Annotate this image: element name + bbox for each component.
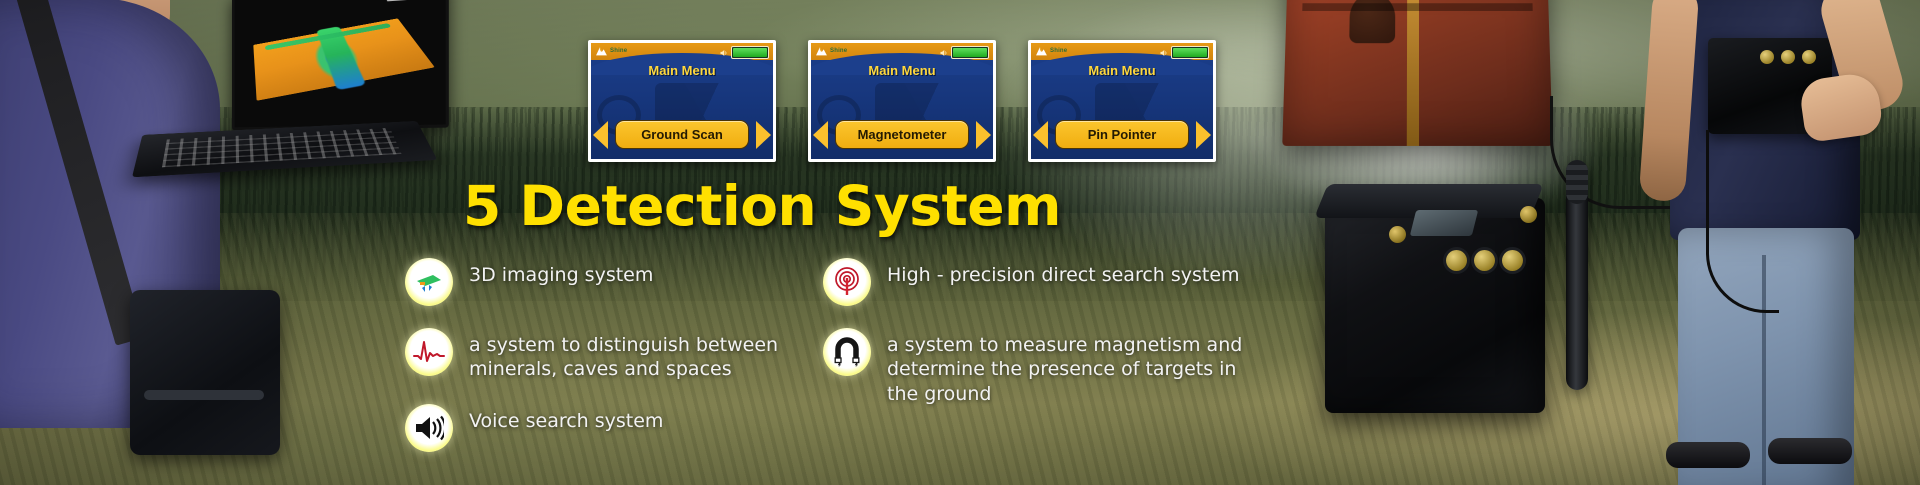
next-mode-arrow-icon[interactable] bbox=[1196, 121, 1211, 149]
list-item-label: a system to distinguish between minerals… bbox=[469, 328, 825, 382]
brand-logo: Shine bbox=[595, 44, 627, 57]
list-item-label: 3D imaging system bbox=[469, 258, 653, 287]
list-item: Voice search system bbox=[405, 404, 825, 452]
chest-body bbox=[1282, 0, 1552, 146]
handheld-knob-3 bbox=[1802, 50, 1816, 64]
screen-title: Main Menu bbox=[1031, 63, 1213, 78]
screen-title: Main Menu bbox=[811, 63, 993, 78]
page-title: 5 Detection System bbox=[463, 174, 1061, 238]
3d-scan-plot bbox=[253, 18, 434, 100]
list-item: a system to distinguish between minerals… bbox=[405, 328, 825, 382]
brand-logo-text: Shine bbox=[610, 48, 627, 54]
mode-button[interactable]: Magnetometer bbox=[835, 120, 969, 149]
handheld-knob-group bbox=[1760, 50, 1816, 64]
operator-right bbox=[1650, 0, 1920, 485]
battery-icon bbox=[731, 46, 769, 59]
waveform-pulse-icon bbox=[405, 328, 453, 376]
scanner-port-1 bbox=[1446, 250, 1467, 271]
device-screen-group: Shine Main Menu Ground Scan bbox=[588, 40, 1216, 162]
3d-imaging-icon bbox=[405, 258, 453, 306]
list-item-label: a system to measure magnetism and determ… bbox=[887, 328, 1263, 406]
scanner-knob-2 bbox=[1520, 206, 1537, 223]
equipment-bag bbox=[130, 290, 280, 455]
next-mode-arrow-icon[interactable] bbox=[756, 121, 771, 149]
mode-selector-row: Pin Pointer bbox=[1031, 120, 1213, 149]
scanner-port-group bbox=[1446, 250, 1523, 271]
treasure-chest bbox=[1285, 0, 1550, 145]
battery-icon bbox=[1171, 46, 1209, 59]
handheld-cord bbox=[1706, 130, 1779, 313]
status-indicators bbox=[939, 46, 989, 59]
mode-selector-row: Magnetometer bbox=[811, 120, 993, 149]
feature-column-right: High - precision direct search system a … bbox=[823, 258, 1263, 428]
handheld-knob-2 bbox=[1781, 50, 1795, 64]
prev-mode-arrow-icon[interactable] bbox=[1033, 121, 1048, 149]
brand-logo: Shine bbox=[815, 44, 847, 57]
list-item: 3D imaging system bbox=[405, 258, 825, 306]
brand-logo-text: Shine bbox=[830, 48, 847, 54]
prev-mode-arrow-icon[interactable] bbox=[593, 121, 608, 149]
mountain-logo-icon bbox=[595, 44, 608, 57]
brand-logo: Shine bbox=[1035, 44, 1067, 57]
laptop-keyboard bbox=[162, 128, 402, 167]
list-item: High - precision direct search system bbox=[823, 258, 1263, 306]
laptop-screen bbox=[232, 0, 449, 130]
search-coil-pole bbox=[1566, 160, 1588, 390]
mode-button[interactable]: Pin Pointer bbox=[1055, 120, 1189, 149]
next-mode-arrow-icon[interactable] bbox=[976, 121, 991, 149]
laptop-base bbox=[132, 121, 437, 177]
speaker-icon bbox=[939, 48, 948, 58]
operator-right-shoe-right bbox=[1768, 438, 1852, 464]
handheld-knob-1 bbox=[1760, 50, 1774, 64]
speaker-icon bbox=[1159, 48, 1168, 58]
battery-icon bbox=[951, 46, 989, 59]
screen-title: Main Menu bbox=[591, 63, 773, 78]
prev-mode-arrow-icon[interactable] bbox=[813, 121, 828, 149]
scanner-port-2 bbox=[1474, 250, 1495, 271]
feature-column-left: 3D imaging system a system to distinguis… bbox=[405, 258, 825, 474]
product-banner: Shine Main Menu Ground Scan bbox=[0, 0, 1920, 485]
scanner-port-3 bbox=[1502, 250, 1523, 271]
speaker-volume-icon bbox=[405, 404, 453, 452]
antenna-signal-icon bbox=[823, 258, 871, 306]
status-indicators bbox=[719, 46, 769, 59]
ground-scanner-case bbox=[1325, 198, 1545, 413]
device-screen-magnetometer[interactable]: Shine Main Menu Magnetometer bbox=[808, 40, 996, 162]
mountain-logo-icon bbox=[815, 44, 828, 57]
device-screen-pin-pointer[interactable]: Shine Main Menu Pin Pointer bbox=[1028, 40, 1216, 162]
mode-selector-row: Ground Scan bbox=[591, 120, 773, 149]
list-item-label: Voice search system bbox=[469, 404, 663, 433]
device-screen-ground-scan[interactable]: Shine Main Menu Ground Scan bbox=[588, 40, 776, 162]
scanner-display bbox=[1410, 210, 1478, 236]
mode-button[interactable]: Ground Scan bbox=[615, 120, 749, 149]
speaker-icon bbox=[719, 48, 728, 58]
list-item-label: High - precision direct search system bbox=[887, 258, 1240, 287]
list-item: a system to measure magnetism and determ… bbox=[823, 328, 1263, 406]
screen-label-tag bbox=[387, 0, 435, 1]
brand-logo-text: Shine bbox=[1050, 48, 1067, 54]
status-indicators bbox=[1159, 46, 1209, 59]
scanner-knob-1 bbox=[1389, 226, 1406, 243]
laptop-3d-scan-display bbox=[140, 0, 440, 178]
magnet-icon bbox=[823, 328, 871, 376]
operator-right-shoe-left bbox=[1666, 442, 1750, 468]
chest-lock-icon bbox=[1349, 0, 1395, 43]
mountain-logo-icon bbox=[1035, 44, 1048, 57]
